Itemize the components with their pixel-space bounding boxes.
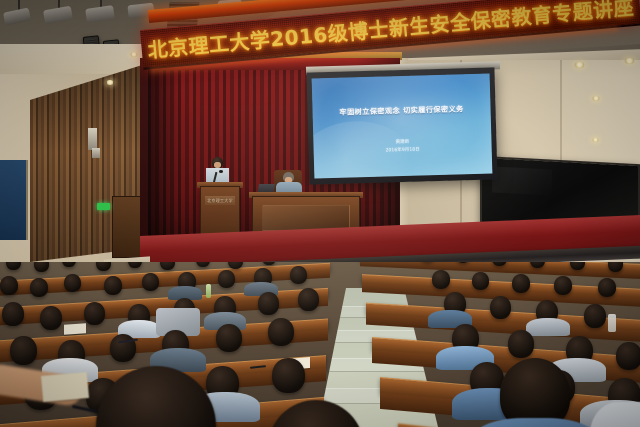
water-bottle: [608, 314, 616, 332]
recessed-downlight: [624, 58, 635, 64]
audience-member: [30, 278, 48, 297]
audience-member: [6, 262, 21, 270]
audience-member: [584, 304, 606, 328]
audience-member: [64, 274, 81, 292]
audience-member: [2, 302, 24, 326]
microphone-head-icon: [219, 170, 223, 173]
recessed-downlight: [106, 80, 114, 85]
audience-member: [262, 262, 276, 265]
audience-member: [84, 302, 105, 325]
audience-member: [142, 273, 159, 291]
wall-monitor-glare: [492, 166, 552, 195]
wall-control-box: [88, 128, 97, 150]
audience-member: [554, 276, 572, 295]
audience-member: [500, 358, 570, 427]
water-bottle: [206, 284, 211, 298]
audience-member: [62, 262, 76, 267]
curtain-fold: [148, 58, 182, 243]
projection-screen: 牢固树立保密观念 切实履行保密义务 黄建新 2016年9月18日: [312, 74, 493, 179]
recessed-downlight: [130, 52, 138, 57]
podium: [200, 186, 240, 236]
audience-member: [432, 270, 450, 289]
audience-member: [104, 276, 122, 295]
audience-member: [96, 262, 111, 271]
left-wall-opening: [0, 160, 28, 240]
lecture-hall-photo: 牢固树立保密观念 切实履行保密义务 黄建新 2016年9月18日 北京理工大学2…: [0, 0, 640, 427]
audience-member: [258, 292, 279, 315]
audience-seating-area: [0, 262, 640, 427]
audience-member: [196, 262, 210, 267]
recessed-downlight: [592, 96, 600, 101]
audience-member: [218, 270, 235, 288]
audience-member: [298, 288, 319, 311]
audience-member: [34, 262, 49, 272]
audience-member: [472, 272, 489, 290]
podium-nameplate-text: 北京理工大学: [207, 198, 233, 204]
wall-control-box: [92, 148, 100, 158]
audience-member: [128, 262, 142, 268]
audience-member: [216, 324, 242, 352]
audience-member: [40, 306, 62, 330]
audience-member: [110, 334, 136, 362]
exit-sign: [97, 203, 110, 210]
audience-member: [598, 278, 616, 297]
audience-member: [512, 274, 530, 293]
audience-member: [160, 262, 175, 270]
projector-hotspot: [312, 74, 493, 179]
audience-member: [290, 266, 307, 284]
notebook-paper: [64, 323, 86, 335]
recessed-downlight: [592, 138, 599, 142]
notepad: [41, 372, 89, 402]
audience-member: [508, 330, 534, 358]
recessed-downlight: [574, 62, 585, 68]
audience-member: [616, 342, 640, 370]
audience-member: [268, 318, 294, 346]
audience-member-shoulders: [526, 318, 570, 336]
audience-member: [490, 296, 511, 319]
audience-member: [272, 358, 305, 393]
podium-nameplate: 北京理工大学: [205, 196, 235, 205]
audience-member: [10, 336, 37, 365]
audience-member: [0, 276, 18, 295]
